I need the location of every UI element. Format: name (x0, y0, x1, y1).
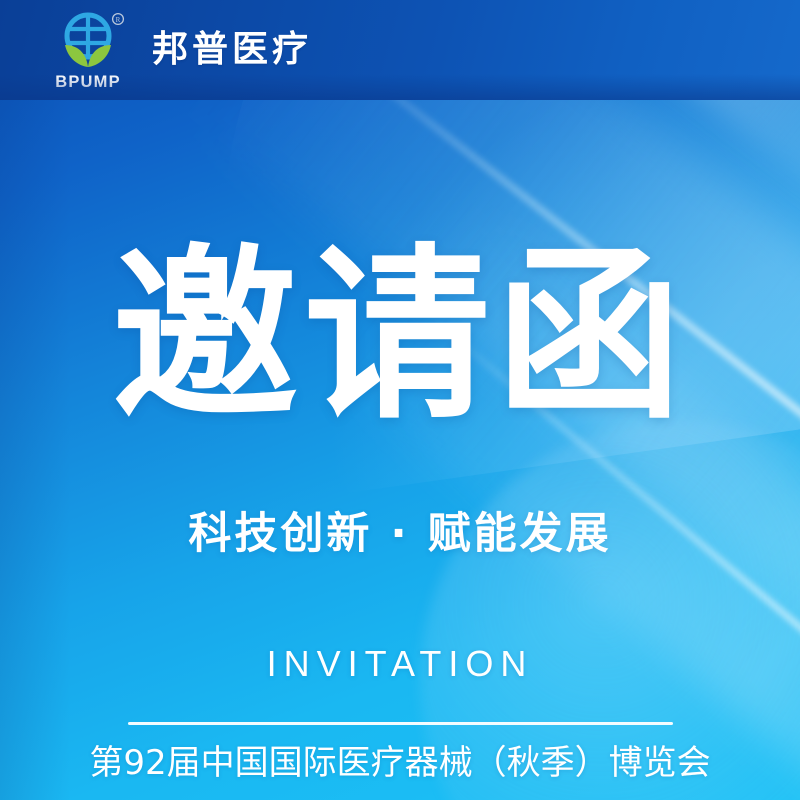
header-bar: R BPUMP 邦普医疗 (0, 0, 800, 100)
event-name: 第92届中国国际医疗器械（秋季）博览会 (0, 738, 800, 789)
subtitle-slogan: 科技创新 · 赋能发展 (0, 508, 800, 562)
invitation-english-label: INVITATION (0, 646, 800, 682)
main-title: 邀请函 (0, 243, 800, 429)
footer-divider (128, 722, 673, 725)
invitation-poster: R BPUMP 邦普医疗 邀请函 科技创新 · 赋能发展 INVITATION … (0, 0, 800, 800)
brand-name-chinese: 邦普医疗 (152, 32, 312, 68)
bpump-globe-leaf-logo: R BPUMP (46, 9, 130, 91)
poster-content: 邀请函 科技创新 · 赋能发展 INVITATION 第92届中国国际医疗器械（… (0, 0, 800, 800)
svg-text:R: R (116, 16, 121, 24)
logo-wordmark: BPUMP (46, 74, 130, 91)
